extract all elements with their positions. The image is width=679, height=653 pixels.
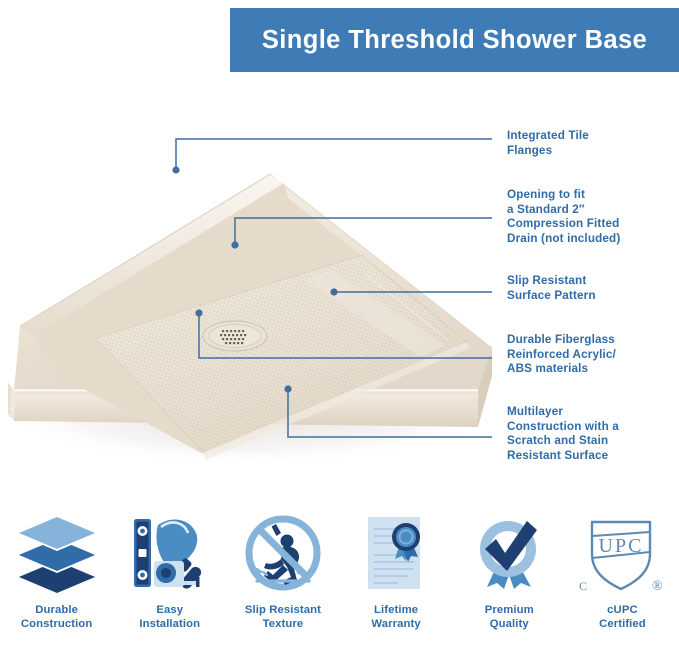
feature-badge-strip: Durable Construction [0,505,679,653]
feature-cupc-certified: UPC C ® cUPC Certified [566,505,679,653]
ribbon-seal-icon [392,523,420,562]
page-title: Single Threshold Shower Base [262,26,647,55]
leader-dot-slip-surface [330,288,337,295]
feature-caption: Premium Quality [485,603,534,631]
feature-slip-resistant: Slip Resistant Texture [226,505,339,653]
upc-prefix-c: C [579,579,587,593]
feature-premium-quality: Premium Quality [453,505,566,653]
leader-line-multilayer [288,389,492,437]
leader-dot-materials [195,309,202,316]
feature-durable-construction: Durable Construction [0,505,113,653]
callout-label-materials: Durable Fiberglass Reinforced Acrylic/ A… [507,333,679,377]
feature-lifetime-warranty: Lifetime Warranty [340,505,453,653]
header-banner: Single Threshold Shower Base [230,8,679,72]
upc-text: UPC [599,535,644,557]
leader-dot-drain-opening [231,241,238,248]
registered-mark: ® [652,579,663,594]
feature-easy-installation: Easy Installation [113,505,226,653]
feature-caption: Slip Resistant Texture [245,603,321,631]
callout-label-drain-opening: Opening to fit a Standard 2″ Compression… [507,188,679,246]
upc-shield-icon: UPC C ® [572,505,672,601]
level-icon [134,519,151,587]
tools-icon [124,505,216,601]
no-slipping-icon [237,505,329,601]
award-check-icon [463,505,555,601]
callout-label-slip-surface: Slip Resistant Surface Pattern [507,274,679,303]
leader-line-materials [199,313,492,358]
feature-caption: Easy Installation [139,603,200,631]
feature-caption: Durable Construction [21,603,93,631]
certificate-icon [350,505,442,601]
layers-icon [11,505,103,601]
leader-dot-tile-flanges [172,166,179,173]
feature-caption: Lifetime Warranty [371,603,420,631]
leader-dot-multilayer [284,385,291,392]
leader-line-tile-flanges [176,139,492,170]
feature-caption: cUPC Certified [599,603,646,631]
callout-label-multilayer: Multilayer Construction with a Scratch a… [507,405,679,463]
leader-line-drain-opening [235,218,492,245]
callout-label-tile-flanges: Integrated Tile Flanges [507,129,679,158]
